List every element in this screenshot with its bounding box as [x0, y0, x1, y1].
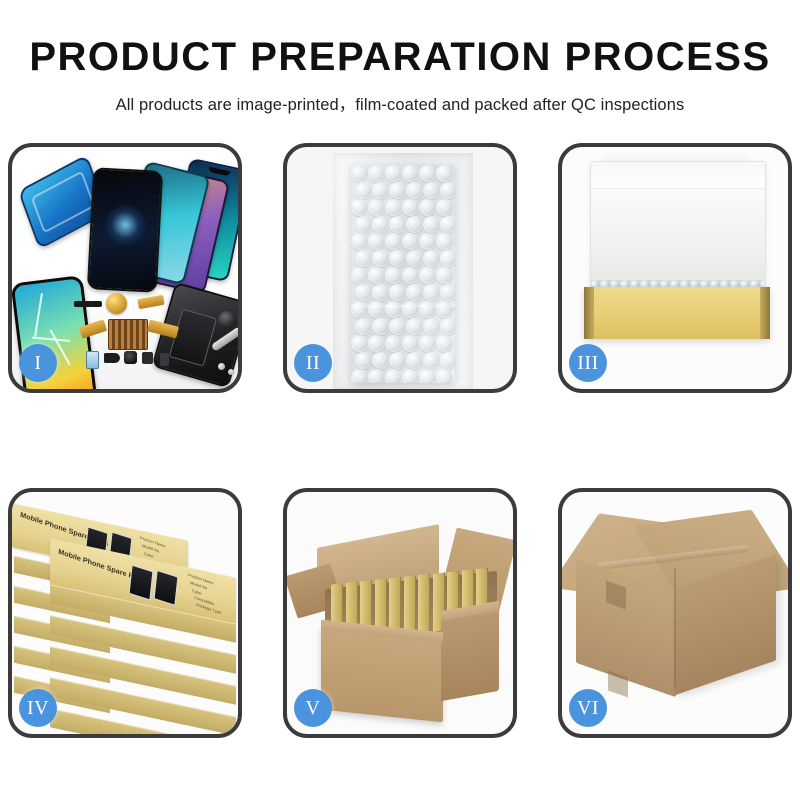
bubble-icon [402, 301, 419, 318]
bubble-icon [385, 335, 402, 352]
bubble-wrap-bubbles [351, 165, 455, 383]
bubble-icon [389, 250, 406, 267]
bubble-icon [372, 352, 389, 369]
bubble-icon [440, 352, 455, 369]
bubble-icon [351, 369, 368, 383]
bubble-wrap-sheet [333, 153, 473, 389]
bubble-icon [355, 250, 372, 267]
bubble-icon [406, 352, 423, 369]
screw-icon [218, 363, 225, 370]
bubble-icon [385, 233, 402, 250]
bubble-icon [406, 284, 423, 301]
bubble-icon [419, 267, 436, 284]
bubble-icon [368, 267, 385, 284]
bubble-icon [368, 335, 385, 352]
bubble-icon [368, 199, 385, 216]
bubble-icon [423, 318, 440, 335]
notch-icon [208, 167, 231, 176]
bubble-icon [385, 301, 402, 318]
bubble-icon [372, 250, 389, 267]
step-badge-4: IV [19, 689, 57, 727]
process-panel-grid: I II III [8, 143, 792, 738]
panel-step-3[interactable]: III [558, 143, 792, 393]
bubble-icon [402, 335, 419, 352]
bubble-icon [423, 250, 440, 267]
bubble-icon [402, 199, 419, 216]
bubble-icon [385, 165, 402, 182]
bubble-icon [368, 301, 385, 318]
inner-box-body [584, 287, 770, 339]
page-header: PRODUCT PREPARATION PROCESS All products… [0, 0, 800, 115]
bubble-icon [436, 165, 453, 182]
inner-box-right-side [760, 287, 770, 339]
box-lid-flap [590, 161, 766, 291]
bubble-icon [402, 267, 419, 284]
bubble-icon [436, 301, 453, 318]
bubble-icon [423, 352, 440, 369]
vibration-motor-icon [106, 293, 127, 314]
bubble-icon [402, 233, 419, 250]
bubble-icon [385, 369, 402, 383]
panel-step-5[interactable]: V [283, 488, 517, 738]
bubble-icon [372, 284, 389, 301]
crack-line-icon [32, 337, 70, 342]
bubble-icon [368, 233, 385, 250]
screw-icon [228, 369, 234, 375]
bubble-icon [423, 216, 440, 233]
chip-icon [142, 352, 153, 364]
bubble-icon [385, 267, 402, 284]
bubble-icon [419, 199, 436, 216]
speaker-strip-icon [74, 301, 102, 307]
packed-box-item [404, 576, 416, 635]
bubble-icon [406, 250, 423, 267]
box-lid-fold [591, 162, 765, 189]
bubble-icon [419, 165, 436, 182]
bubble-icon [440, 284, 455, 301]
bubble-icon [436, 335, 453, 352]
screen-glass-icon [87, 167, 163, 292]
connector-board-icon [108, 319, 148, 350]
bubble-icon [368, 165, 385, 182]
bubble-icon [419, 233, 436, 250]
bubble-icon [406, 216, 423, 233]
crack-line-icon [34, 293, 43, 337]
carton-corner-edge [674, 568, 676, 686]
bubble-icon [389, 318, 406, 335]
camera-module-icon [124, 351, 137, 364]
bubble-icon [423, 284, 440, 301]
packed-box-item [418, 574, 430, 633]
bubble-icon [372, 216, 389, 233]
bubble-icon [436, 199, 453, 216]
bubble-icon [402, 165, 419, 182]
bubble-icon [419, 335, 436, 352]
bubble-icon [389, 284, 406, 301]
bubble-icon [372, 318, 389, 335]
bubble-icon [355, 216, 372, 233]
notch-icon [117, 174, 139, 180]
step-badge-6: VI [569, 689, 607, 727]
box-screen-image [128, 565, 153, 601]
bubble-icon [351, 335, 368, 352]
bubble-icon [419, 369, 436, 383]
bubble-icon [351, 233, 368, 250]
box-screen-image [153, 570, 178, 606]
button-icon [160, 353, 169, 366]
step-badge-1: I [19, 344, 57, 382]
bubble-icon [406, 182, 423, 199]
bubble-icon [436, 267, 453, 284]
bubble-icon [389, 216, 406, 233]
step-badge-2: II [294, 344, 332, 382]
bubble-icon [372, 182, 389, 199]
panel-step-4[interactable]: Mobile Phone Spare Parts Product Name Mo… [8, 488, 242, 738]
inner-box-left-side [584, 287, 594, 339]
bubble-icon [436, 369, 453, 383]
bubble-icon [419, 301, 436, 318]
earpiece-icon [104, 353, 120, 363]
page-title: PRODUCT PREPARATION PROCESS [0, 36, 800, 78]
bubble-icon [440, 318, 455, 335]
panel-step-2[interactable]: II [283, 143, 517, 393]
step-badge-5: V [294, 689, 332, 727]
bubble-icon [355, 318, 372, 335]
bubble-icon [351, 199, 368, 216]
bubble-icon [368, 369, 385, 383]
bubble-icon [402, 369, 419, 383]
bubble-icon [440, 182, 455, 199]
step-badge-3: III [569, 344, 607, 382]
bubble-icon [355, 284, 372, 301]
panel-step-1[interactable]: I [8, 143, 242, 393]
bubble-icon [355, 182, 372, 199]
bubble-icon [440, 250, 455, 267]
bubble-icon [355, 352, 372, 369]
bubble-icon [351, 267, 368, 284]
bubble-icon [351, 165, 368, 182]
sim-tray-icon [86, 351, 99, 369]
panel-step-6[interactable]: VI [558, 488, 792, 738]
flex-cable-top-icon [137, 295, 164, 309]
carton-right-panel [441, 607, 499, 701]
bubble-icon [389, 352, 406, 369]
bubble-icon [351, 301, 368, 318]
bubble-icon [385, 199, 402, 216]
bubble-icon [436, 233, 453, 250]
page-subtitle: All products are image-printed，film-coat… [0, 91, 800, 115]
bubble-icon [389, 182, 406, 199]
bubble-icon [406, 318, 423, 335]
bubble-icon [440, 216, 455, 233]
bubble-icon [423, 182, 440, 199]
